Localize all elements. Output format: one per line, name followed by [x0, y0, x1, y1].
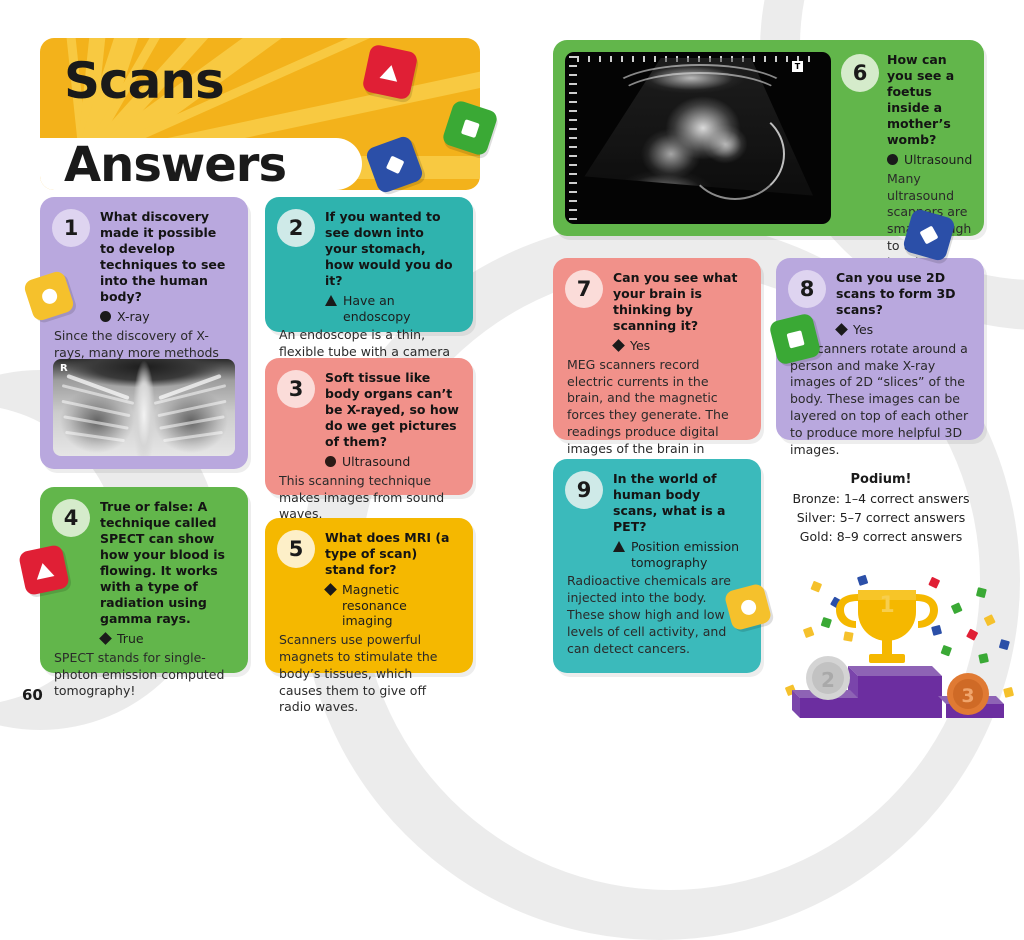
- ultrasound-tick-scale: [569, 56, 577, 220]
- diamond-icon: [919, 225, 938, 244]
- answer-card-7: 7 Can you see what your brain is thinkin…: [553, 258, 761, 440]
- card-number-badge: 1: [52, 209, 90, 247]
- answers-page: Scans Answers 1 What discovery made it p…: [0, 0, 1024, 727]
- card-question: In the world of human body scans, what i…: [613, 471, 747, 535]
- card-answer: Magnetic resonance imaging: [342, 582, 459, 629]
- circle-icon: [739, 598, 757, 616]
- card-question: If you wanted to see down into your stom…: [325, 209, 459, 289]
- card-answer: Ultrasound: [904, 152, 972, 168]
- card-explanation: MEG scanners record electric currents in…: [567, 357, 747, 475]
- card-answer: True: [117, 631, 144, 647]
- podium-bronze: Bronze: 1–4 correct answers: [776, 491, 986, 506]
- card-number-badge: 3: [277, 370, 315, 408]
- answer-card-3: 3 Soft tissue like body organs can’t be …: [265, 358, 473, 495]
- card-number-badge: 9: [565, 471, 603, 509]
- square-icon: [461, 119, 480, 138]
- card-question: What discovery made it possible to devel…: [100, 209, 234, 305]
- triangle-icon: [34, 561, 55, 579]
- xray-side-label: R: [60, 363, 68, 374]
- ultrasound-marker-label: T: [792, 61, 803, 72]
- card-answer: X-ray: [117, 309, 150, 325]
- card-question: Soft tissue like body organs can’t be X-…: [325, 370, 459, 450]
- bronze-medal: 3: [947, 673, 989, 715]
- answer-marker-diamond-icon: [613, 340, 624, 353]
- answer-card-9: 9 In the world of human body scans, what…: [553, 459, 761, 673]
- trophy-number: 1: [879, 593, 894, 618]
- card-question: How can you see a foetus inside a mother…: [887, 52, 972, 148]
- answer-marker-triangle-icon: [613, 541, 625, 554]
- card-question: Can you use 2D scans to form 3D scans?: [836, 270, 970, 318]
- answer-card-2: 2 If you wanted to see down into your st…: [265, 197, 473, 332]
- card-answer: Ultrasound: [342, 454, 410, 470]
- answer-marker-diamond-icon: [100, 633, 111, 646]
- answer-card-4: 4 True or false: A technique called SPEC…: [40, 487, 248, 673]
- foetus-ultrasound-image: T: [565, 52, 831, 224]
- card-explanation: Scanners use powerful magnets to stimula…: [279, 632, 459, 716]
- card-explanation: SPECT stands for single-photon emission …: [54, 650, 234, 701]
- card-answer: Position emission tomography: [631, 539, 747, 570]
- answer-marker-diamond-icon: [325, 584, 336, 597]
- card-number-badge: 4: [52, 499, 90, 537]
- card-answer: Yes: [853, 322, 873, 338]
- answer-marker-triangle-icon: [325, 295, 337, 308]
- answer-card-6: T 6 How can you see a foetus inside a mo…: [553, 40, 984, 236]
- gold-trophy: 1: [836, 590, 938, 663]
- answer-marker-circle-icon: [325, 456, 336, 469]
- answer-marker-diamond-icon: [836, 324, 847, 337]
- triangle-icon: [380, 63, 401, 81]
- answer-marker-circle-icon: [887, 154, 898, 167]
- card-explanation: CT scanners rotate around a person and m…: [790, 341, 970, 459]
- podium-title: Podium!: [776, 472, 986, 487]
- card-number-badge: 8: [788, 270, 826, 308]
- square-icon: [786, 330, 804, 348]
- answer-card-1: 1 What discovery made it possible to dev…: [40, 197, 248, 469]
- card-number-badge: 5: [277, 530, 315, 568]
- answer-card-5: 5 What does MRI (a type of scan) stand f…: [265, 518, 473, 673]
- podium-gold: Gold: 8–9 correct answers: [776, 529, 986, 544]
- medal-number-3: 3: [961, 685, 974, 707]
- podium-silver: Silver: 5–7 correct answers: [776, 510, 986, 525]
- answer-marker-circle-icon: [100, 311, 111, 324]
- card-explanation: This scanning technique makes images fro…: [279, 473, 459, 524]
- card-explanation: Radioactive chemicals are injected into …: [567, 573, 747, 657]
- card-question: What does MRI (a type of scan) stand for…: [325, 530, 459, 578]
- page-title: Scans: [64, 52, 224, 110]
- ultrasound-arc-head: [685, 108, 785, 200]
- podium-section: Podium! Bronze: 1–4 correct answers Silv…: [776, 472, 986, 544]
- decor-red-triangle-square: [362, 44, 419, 101]
- card-number-badge: 2: [277, 209, 315, 247]
- trophy-podium-illustration: 1 2: [772, 568, 1022, 718]
- medal-number-2: 2: [821, 668, 835, 692]
- card-number-badge: 7: [565, 270, 603, 308]
- diamond-icon: [385, 155, 404, 174]
- card-question: True or false: A technique called SPECT …: [100, 499, 234, 627]
- card-answer: Yes: [630, 338, 650, 354]
- silver-medal: 2: [806, 656, 850, 700]
- card-answer: Have an endoscopy: [343, 293, 459, 324]
- page-number: 60: [22, 686, 43, 704]
- page-subtitle: Answers: [64, 137, 286, 190]
- card-question: Can you see what your brain is thinking …: [613, 270, 747, 334]
- card-number-badge: 6: [841, 54, 879, 92]
- chest-xray-image: R: [53, 359, 235, 456]
- circle-icon: [40, 287, 59, 306]
- decor-red-triangle-square-2: [18, 544, 70, 596]
